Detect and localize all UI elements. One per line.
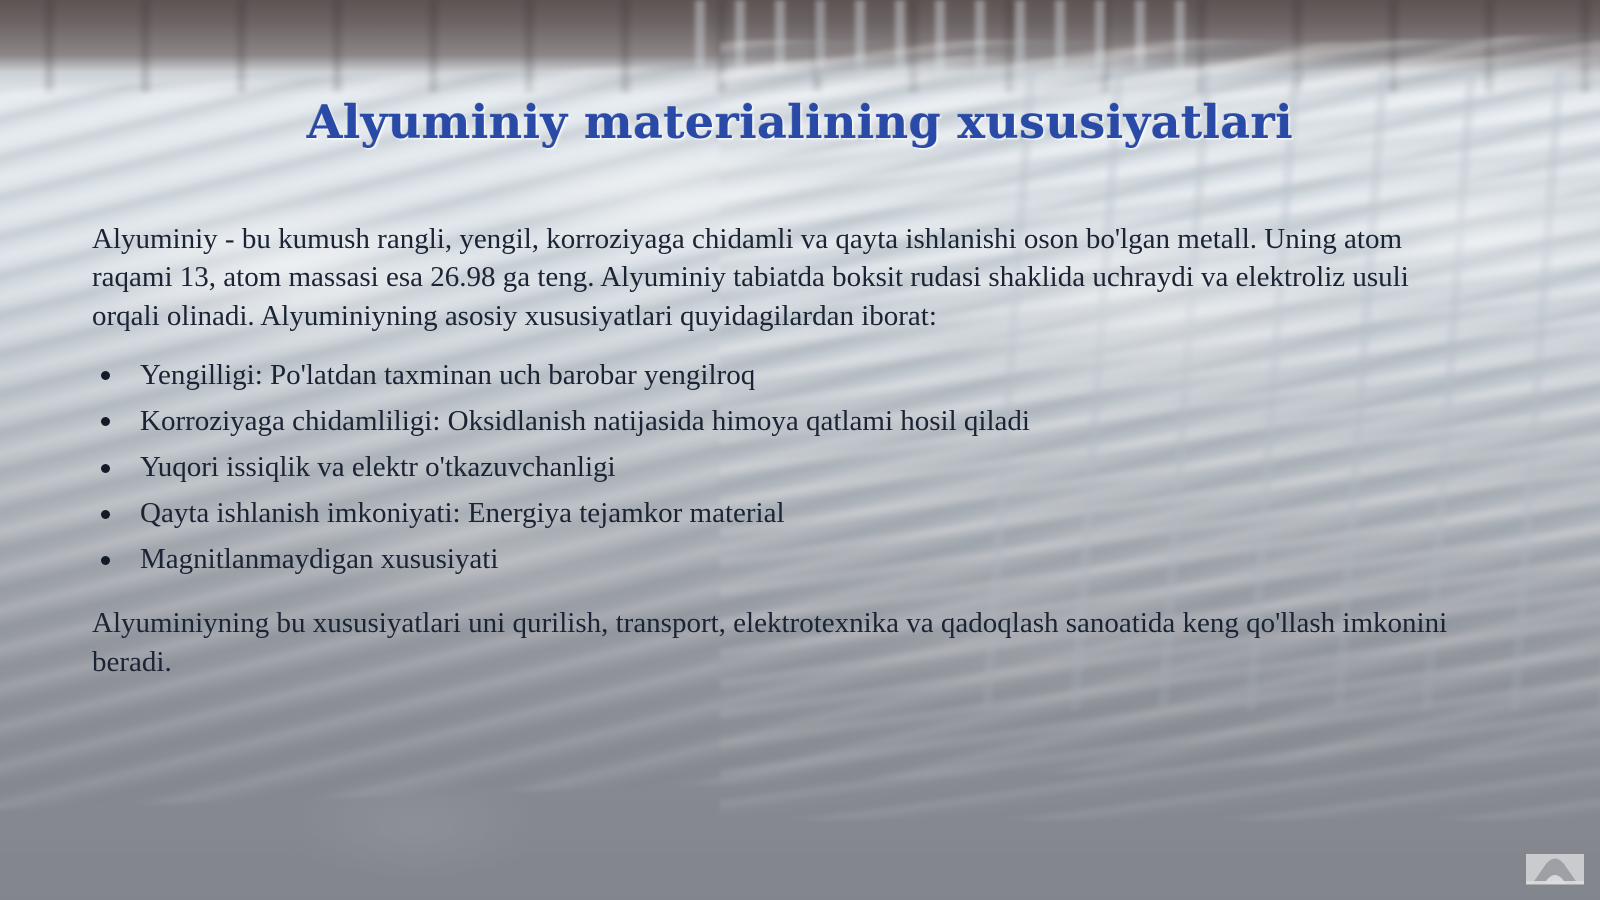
slide-body: Alyuminiy - bu kumush rangli, yengil, ko… [92, 220, 1462, 681]
list-item-label: Qayta ishlanish imkoniyati: Energiya tej… [140, 497, 785, 529]
presentation-slide: Alyuminiy materialining xususiyatlari Al… [0, 0, 1600, 900]
list-item: Yengilligi: Po'latdan taxminan uch barob… [92, 357, 1462, 394]
arch-logo-icon [1524, 850, 1586, 888]
list-item-label: Yengilligi: Po'latdan taxminan uch barob… [140, 359, 755, 391]
bullet-dot-icon [101, 510, 110, 519]
list-item-label: Magnitlanmaydigan xususiyati [140, 543, 498, 575]
slide-title: Alyuminiy materialining xususiyatlari [0, 95, 1600, 149]
slide-content: Alyuminiy materialining xususiyatlari Al… [0, 0, 1600, 900]
list-item: Yuqori issiqlik va elektr o'tkazuvchanli… [92, 449, 1462, 486]
list-item-label: Korroziyaga chidamliligi: Oksidlanish na… [140, 405, 1030, 437]
bullet-dot-icon [101, 417, 110, 426]
bullet-dot-icon [101, 464, 110, 473]
list-item: Magnitlanmaydigan xususiyati [92, 541, 1462, 578]
properties-bullet-list: Yengilligi: Po'latdan taxminan uch barob… [92, 357, 1462, 579]
list-item: Qayta ishlanish imkoniyati: Energiya tej… [92, 495, 1462, 532]
outro-paragraph: Alyuminiyning bu xususiyatlari uni quril… [92, 604, 1462, 681]
intro-paragraph: Alyuminiy - bu kumush rangli, yengil, ko… [92, 220, 1462, 335]
list-item: Korroziyaga chidamliligi: Oksidlanish na… [92, 403, 1462, 440]
list-item-label: Yuqori issiqlik va elektr o'tkazuvchanli… [140, 451, 616, 483]
bullet-dot-icon [101, 371, 110, 380]
bullet-dot-icon [101, 556, 110, 565]
